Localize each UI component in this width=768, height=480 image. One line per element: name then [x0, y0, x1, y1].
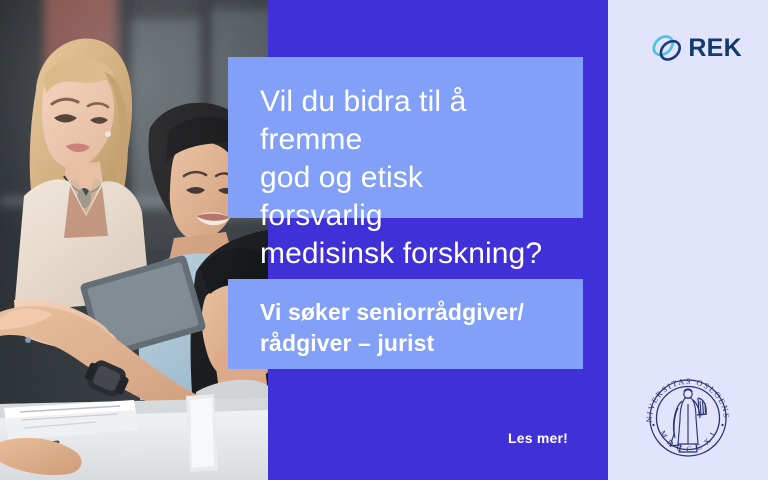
headline-callout: Vil du bidra til å fremme god og etisk f…	[228, 57, 583, 218]
job-title-text: Vi søker seniorrådgiver/ rådgiver – juri…	[260, 297, 557, 359]
rek-wordmark: REK	[688, 36, 742, 61]
headline-text: Vil du bidra til å fremme god og etisk f…	[260, 83, 553, 273]
uio-seal: UNIVERSITAS OSLOENSIS M D C C C X I	[638, 368, 738, 468]
rek-logo[interactable]: REK	[650, 26, 742, 70]
read-more-link[interactable]: Les mer!	[508, 430, 568, 446]
rek-interlocking-rings-icon	[650, 26, 684, 70]
recruitment-banner: Vil du bidra til å fremme god og etisk f…	[0, 0, 768, 480]
job-title-callout: Vi søker seniorrådgiver/ rådgiver – juri…	[228, 279, 583, 369]
